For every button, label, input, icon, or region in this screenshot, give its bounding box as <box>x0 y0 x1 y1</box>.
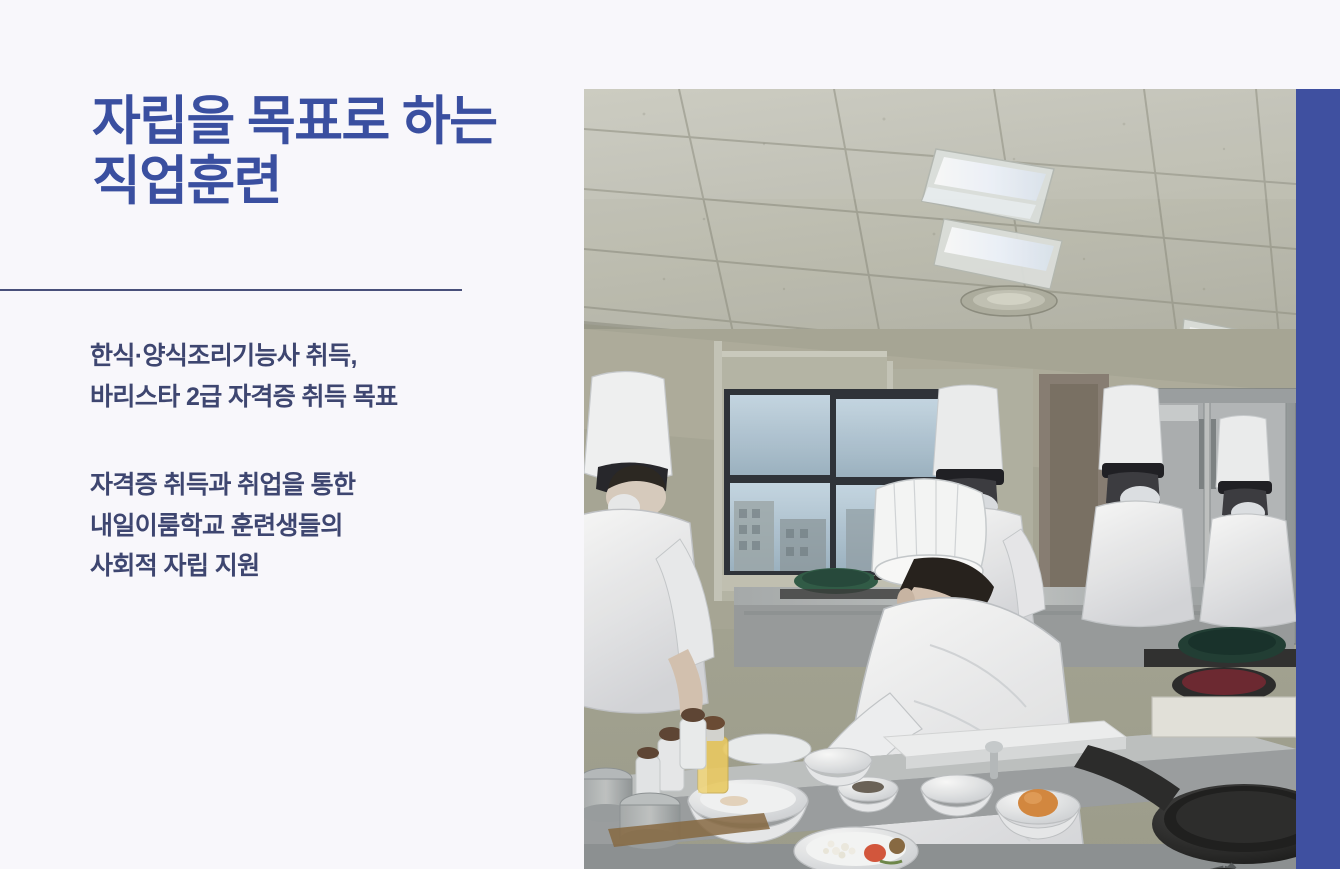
body-paragraph-support: 자격증 취득과 취업을 통한 내일이룸학교 훈련생들의 사회적 자립 지원 <box>90 465 560 587</box>
training-photo-illustration <box>584 89 1296 869</box>
text-column: 자립을 목표로 하는 직업훈련 한식·양식조리기능사 취득, 바리스타 2급 자… <box>0 0 584 869</box>
body-paragraph-goals: 한식·양식조리기능사 취득, 바리스타 2급 자격증 취득 목표 <box>90 336 560 417</box>
slide-root: 자립을 목표로 하는 직업훈련 한식·양식조리기능사 취득, 바리스타 2급 자… <box>0 0 1340 869</box>
section-divider <box>0 289 462 291</box>
body-text-block: 한식·양식조리기능사 취득, 바리스타 2급 자격증 취득 목표 자격증 취득과… <box>90 336 560 587</box>
accent-bar <box>1296 89 1340 869</box>
training-photo <box>584 89 1296 869</box>
page-title: 자립을 목표로 하는 직업훈련 <box>92 92 562 213</box>
